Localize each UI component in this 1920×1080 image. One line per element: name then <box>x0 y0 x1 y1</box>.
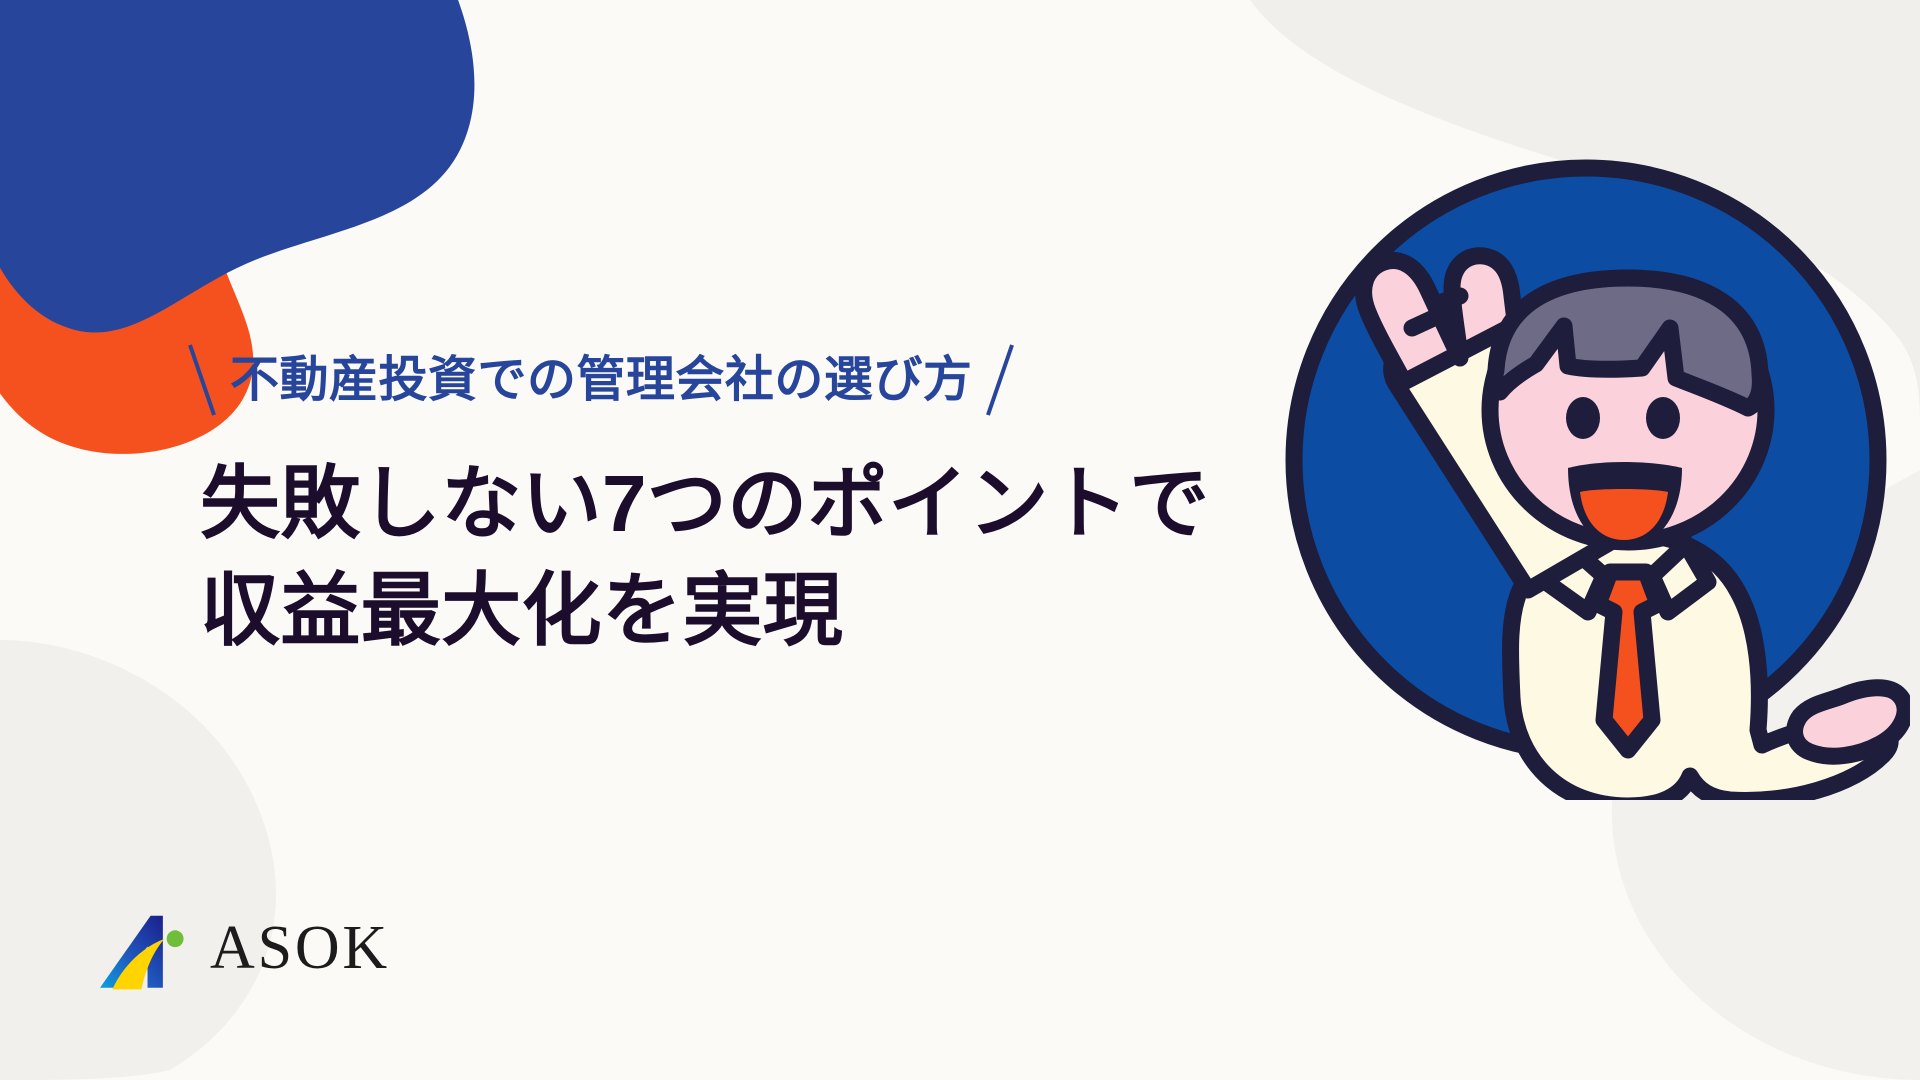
right-eye <box>1646 397 1680 439</box>
eyebrow-subtitle: 不動産投資での管理会社の選び方 <box>200 340 1002 420</box>
logo-accent-dot-icon <box>167 930 184 947</box>
eyebrow-right-slash-icon <box>986 344 1014 415</box>
slide-canvas: 不動産投資での管理会社の選び方 失敗しない7つのポイントで 収益最大化を実現 A… <box>0 0 1920 1080</box>
pointing-businessman-illustration <box>1190 120 1910 800</box>
navy-blob-top-left <box>0 0 474 332</box>
hand-knuckle-2 <box>1436 296 1460 304</box>
asok-wordmark: ASOK <box>210 917 390 985</box>
pale-swirl-bottom-left <box>0 640 276 1080</box>
hand-knuckle-1 <box>1412 316 1438 328</box>
left-eye <box>1566 397 1600 439</box>
eyebrow-label: 不動産投資での管理会社の選び方 <box>230 356 972 405</box>
page-title: 失敗しない7つのポイントで 収益最大化を実現 <box>200 450 1210 664</box>
necktie <box>1598 572 1658 750</box>
asok-logo: ASOK <box>100 905 390 997</box>
extended-hand <box>1795 688 1906 756</box>
pale-swirl-top-left <box>0 0 120 210</box>
headline-line-1: 失敗しない7つのポイントで <box>200 450 1210 557</box>
headline-line-2: 収益最大化を実現 <box>200 557 1210 664</box>
eyebrow-left-slash-icon <box>188 344 216 415</box>
asok-a-mark-icon <box>100 911 192 991</box>
illustration-svg <box>1190 120 1910 800</box>
